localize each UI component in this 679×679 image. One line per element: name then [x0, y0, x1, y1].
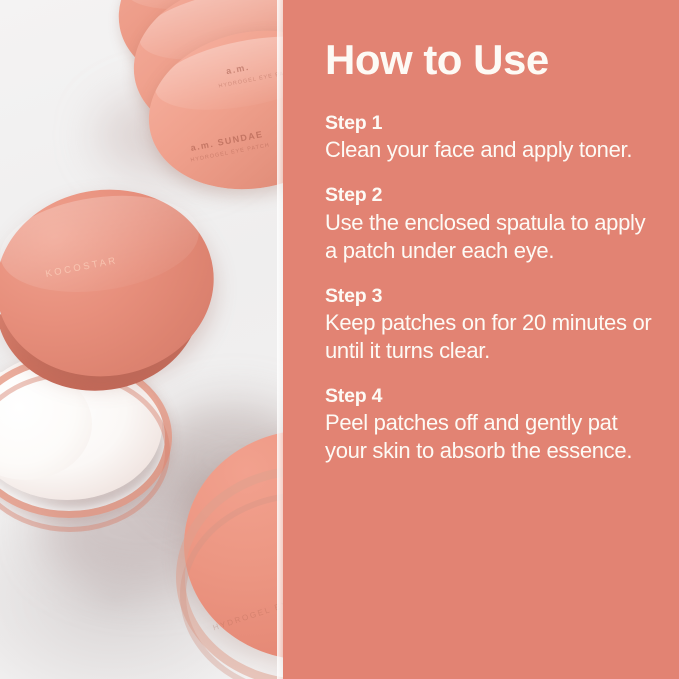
- step-item: Step 1 Clean your face and apply toner.: [325, 112, 653, 164]
- product-instruction-graphic: a.m. HYDROGEL EYE PATCH a.m. SUNDAE HYDR…: [0, 0, 679, 679]
- step-item: Step 2 Use the enclosed spatula to apply…: [325, 184, 653, 264]
- step-text: Use the enclosed spatula to apply a patc…: [325, 209, 653, 265]
- product-photo: a.m. HYDROGEL EYE PATCH a.m. SUNDAE HYDR…: [0, 0, 283, 679]
- step-label: Step 3: [325, 285, 653, 308]
- step-item: Step 4 Peel patches off and gently pat y…: [325, 385, 653, 465]
- instructions-panel: How to Use Step 1 Clean your face and ap…: [283, 0, 679, 679]
- step-text: Keep patches on for 20 minutes or until …: [325, 309, 653, 365]
- step-item: Step 3 Keep patches on for 20 minutes or…: [325, 285, 653, 365]
- page-title: How to Use: [325, 38, 653, 82]
- step-label: Step 2: [325, 184, 653, 207]
- step-text: Clean your face and apply toner.: [325, 136, 653, 164]
- step-label: Step 1: [325, 112, 653, 135]
- step-text: Peel patches off and gently pat your ski…: [325, 409, 653, 465]
- step-label: Step 4: [325, 385, 653, 408]
